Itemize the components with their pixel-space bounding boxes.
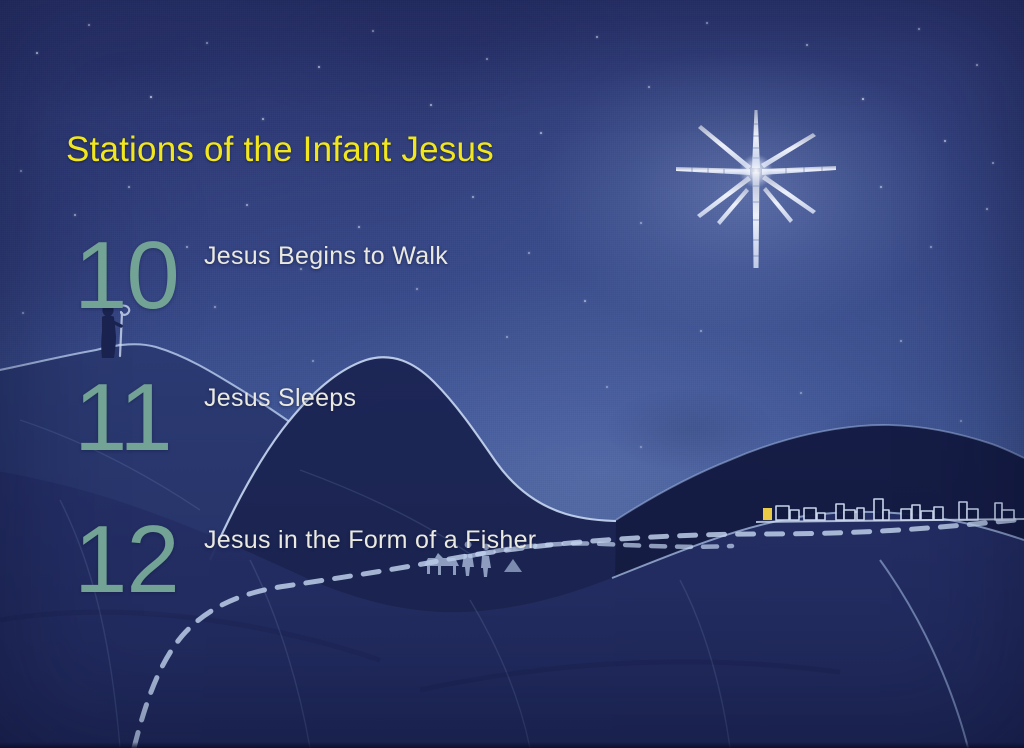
station-item-12[interactable]: 12 Jesus in the Form of a Fisher <box>74 510 834 620</box>
station-number: 10 <box>74 226 194 326</box>
bottom-edge-shadow <box>0 742 1024 748</box>
slide-canvas: Stations of the Infant Jesus 10 Jesus Be… <box>0 0 1024 748</box>
page-title: Stations of the Infant Jesus <box>66 130 494 170</box>
station-number: 11 <box>74 368 194 468</box>
station-label: Jesus Begins to Walk <box>204 242 448 271</box>
station-item-11[interactable]: 11 Jesus Sleeps <box>74 368 834 478</box>
station-label: Jesus in the Form of a Fisher <box>204 526 536 555</box>
station-item-10[interactable]: 10 Jesus Begins to Walk <box>74 226 834 336</box>
station-label: Jesus Sleeps <box>204 384 356 413</box>
station-number: 12 <box>74 510 194 610</box>
